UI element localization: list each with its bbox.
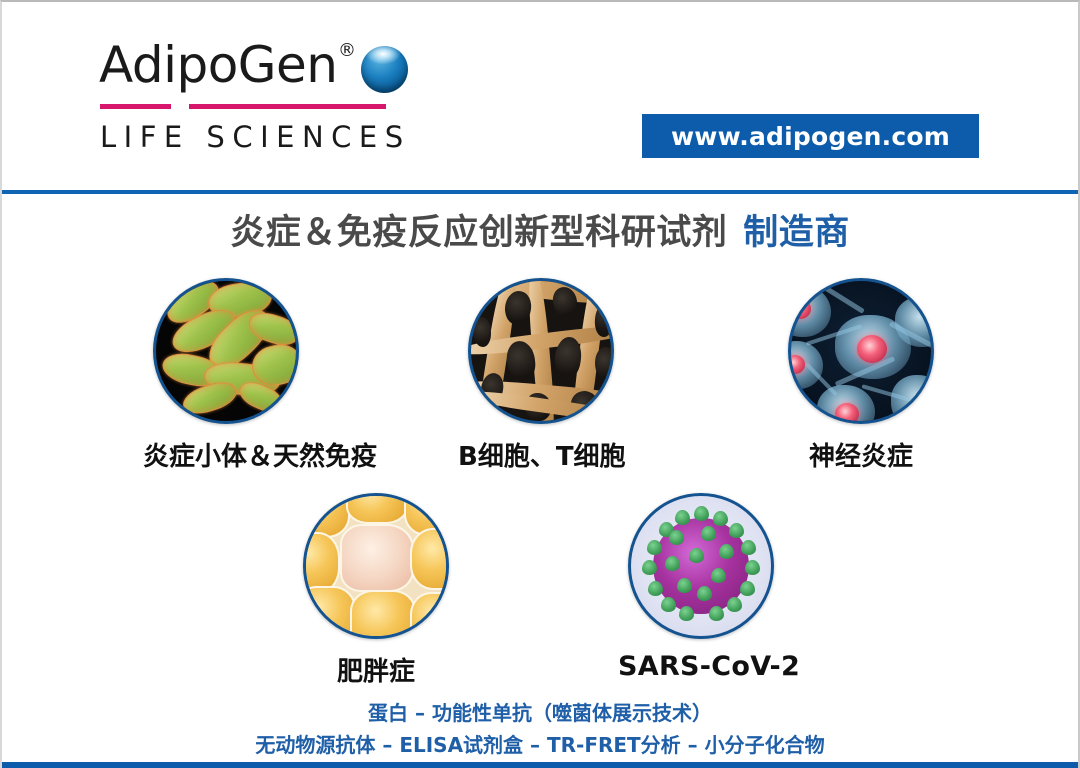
page-header: AdipoGen ® LIFE SCIENCES www.adipogen.co…	[2, 2, 1078, 192]
poster-page: AdipoGen ® LIFE SCIENCES www.adipogen.co…	[0, 0, 1080, 768]
topic-label-neuroinflammation: 神经炎症	[778, 436, 944, 473]
bacteria-micrograph	[153, 278, 299, 424]
header-divider	[2, 190, 1078, 194]
website-url-text: www.adipogen.com	[671, 122, 950, 151]
logo-wordmark-text: AdipoGen	[99, 34, 337, 96]
logo-wordmark-row: AdipoGen ®	[99, 38, 429, 100]
page-title-main: 炎症＆免疫反应创新型科研试剂	[230, 213, 727, 253]
neuron-micrograph	[788, 278, 934, 424]
adipogen-logo[interactable]: AdipoGen ® LIFE SCIENCES	[99, 38, 429, 100]
topic-card-inflammasome[interactable]: 炎症小体＆天然免疫	[143, 278, 309, 473]
adipocyte-micrograph	[303, 493, 449, 639]
registered-trademark-icon: ®	[338, 40, 356, 61]
footer-accent-bar	[2, 762, 1078, 768]
topic-label-sars-cov-2: SARS-CoV-2	[618, 651, 784, 682]
website-url-banner[interactable]: www.adipogen.com	[642, 114, 979, 158]
topic-label-obesity: 肥胖症	[293, 651, 459, 688]
page-title: 炎症＆免疫反应创新型科研试剂制造商	[2, 204, 1078, 255]
topic-label-b-t-cells: B细胞、T细胞	[458, 436, 624, 473]
topic-card-neuroinflammation[interactable]: 神经炎症	[778, 278, 944, 473]
coronavirus-illustration	[628, 493, 774, 639]
logo-accent-bar-right	[189, 104, 386, 109]
blue-sphere-icon	[361, 46, 408, 93]
lymphoid-tissue-micrograph	[468, 278, 614, 424]
page-title-accent: 制造商	[743, 213, 850, 253]
product-categories: 蛋白 – 功能性单抗（噬菌体展示技术） 无动物源抗体 – ELISA试剂盒 – …	[2, 700, 1078, 758]
product-categories-line-2: 无动物源抗体 – ELISA试剂盒 – TR-FRET分析 – 小分子化合物	[2, 732, 1078, 758]
logo-accent-bar-left	[100, 104, 171, 109]
topic-card-obesity[interactable]: 肥胖症	[293, 493, 459, 688]
topic-card-sars-cov-2[interactable]: SARS-CoV-2	[618, 493, 784, 682]
topic-card-b-t-cells[interactable]: B细胞、T细胞	[458, 278, 624, 473]
logo-tagline-text: LIFE SCIENCES	[100, 120, 411, 154]
topic-label-inflammasome: 炎症小体＆天然免疫	[143, 436, 309, 473]
product-categories-line-1: 蛋白 – 功能性单抗（噬菌体展示技术）	[2, 700, 1078, 726]
